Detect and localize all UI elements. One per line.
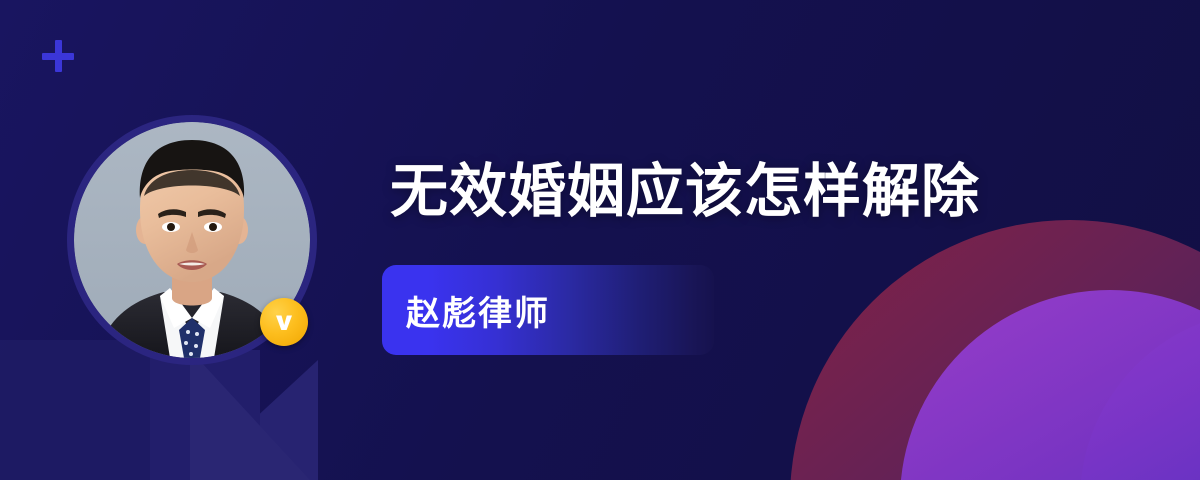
decor-arc-maroon [790, 220, 1200, 480]
lawyer-name-badge: 赵彪律师 [382, 265, 714, 355]
decor-slab-left [0, 340, 206, 480]
verified-badge-icon [260, 298, 308, 346]
avatar [74, 122, 310, 358]
plus-icon [40, 38, 76, 74]
lawyer-name-label: 赵彪律师 [382, 286, 550, 335]
decor-arc-violet [900, 290, 1200, 480]
decor-slab-center-left [150, 350, 260, 480]
decor-triangle-lower [188, 360, 318, 480]
decor-arc-violet-back [1080, 310, 1200, 480]
lawyer-video-banner: 无效婚姻应该怎样解除 赵彪律师 [0, 0, 1200, 480]
page-title: 无效婚姻应该怎样解除 [390, 160, 980, 223]
decor-slab-bottom-left [0, 360, 150, 480]
decor-triangle-upper [190, 350, 310, 480]
